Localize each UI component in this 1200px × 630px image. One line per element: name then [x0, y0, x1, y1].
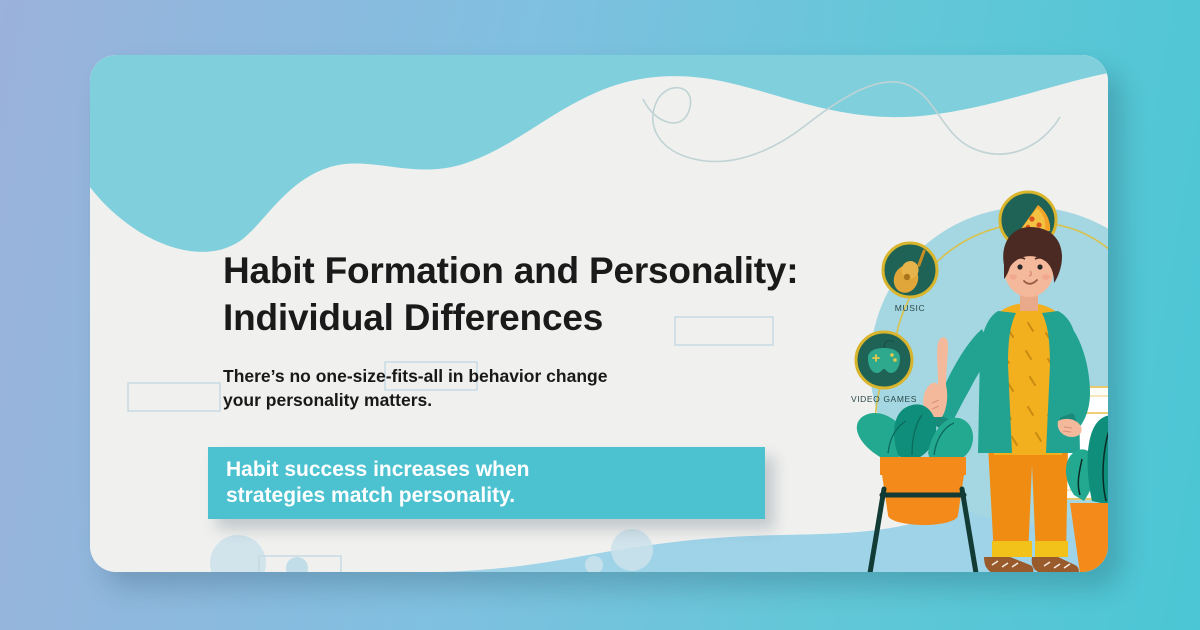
callout-line-2: strategies match personality. — [226, 483, 530, 509]
key-takeaway-banner: Habit success increases when strategies … — [208, 447, 765, 519]
illustration-svg: CULINARY MUSIC — [832, 165, 1108, 572]
hero-illustration: CULINARY MUSIC — [832, 165, 1108, 572]
badge-video-games[interactable]: VIDEO GAMES — [851, 332, 917, 404]
eye-left — [1017, 264, 1022, 269]
page-subtitle: There’s no one-size-fits-all in behavior… — [223, 365, 743, 412]
page-title: Habit Formation and Personality: Individ… — [223, 247, 883, 342]
hero-card: CULINARY MUSIC — [90, 55, 1108, 572]
callout-line-1: Habit success increases when — [226, 457, 530, 483]
potted-plant-on-stand — [857, 404, 978, 572]
badge-label-video-games: VIDEO GAMES — [851, 394, 917, 404]
shoe-left — [984, 557, 1033, 572]
shoe-right — [1032, 557, 1079, 572]
callout-text-block: Habit success increases when strategies … — [208, 457, 530, 510]
subtitle-line-2: your personality matters. — [223, 389, 743, 413]
pants — [988, 445, 1068, 557]
headline-line-1: Habit Formation and Personality: — [223, 247, 883, 294]
badge-label-music: MUSIC — [895, 303, 925, 313]
subtitle-line-1: There’s no one-size-fits-all in behavior… — [223, 365, 743, 389]
eye-right — [1037, 264, 1042, 269]
pants-cuff-right — [1035, 541, 1068, 557]
decor-circle-4 — [611, 529, 653, 571]
headline-line-2: Individual Differences — [223, 294, 883, 341]
pants-cuff-left — [992, 541, 1032, 557]
wavy-plant-pot — [1070, 503, 1108, 572]
